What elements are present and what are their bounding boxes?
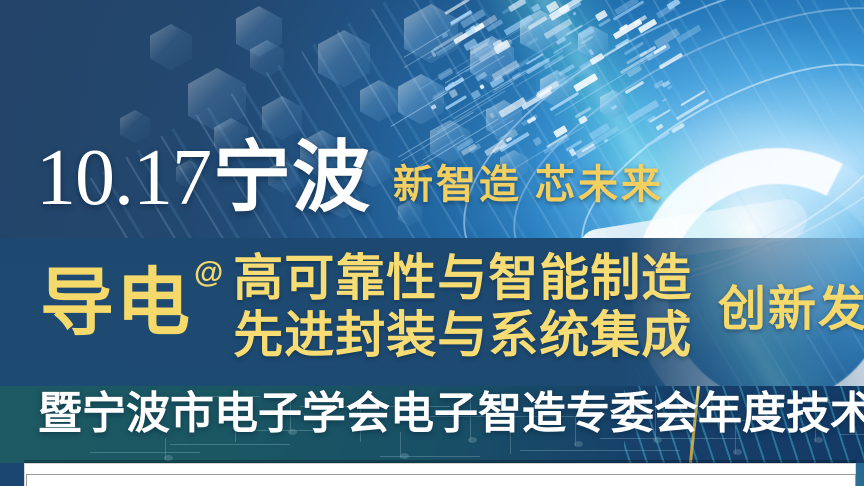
date-city-row: 10.17 宁波 新智造 芯未来: [36, 142, 664, 216]
brand-name: 导电: [40, 266, 192, 340]
right-edge-text: 创新发: [718, 286, 864, 334]
main-headline-row: 导电 @ 高可靠性与智能制造 先进封装与系统集成: [40, 250, 692, 364]
subtitle-text: 暨宁波市电子学会电子智造专委会年度技术交: [38, 392, 864, 436]
event-date: 10.17: [36, 142, 211, 216]
headline-block: 高可靠性与智能制造 先进封装与系统集成: [233, 250, 692, 364]
banner-content: 10.17 宁波 新智造 芯未来 导电 @ 高可靠性与智能制造 先进封装与系统集…: [0, 0, 864, 486]
event-city: 宁波: [213, 142, 371, 214]
event-slogan: 新智造 芯未来: [393, 152, 664, 210]
bottom-panel-inner-frame: [26, 474, 856, 486]
headline-line-1: 高可靠性与智能制造: [233, 250, 692, 307]
brand-superscript: @: [194, 256, 223, 290]
conference-banner: 10.17 宁波 新智造 芯未来 导电 @ 高可靠性与智能制造 先进封装与系统集…: [0, 0, 864, 486]
headline-line-2: 先进封装与系统集成: [233, 307, 692, 364]
